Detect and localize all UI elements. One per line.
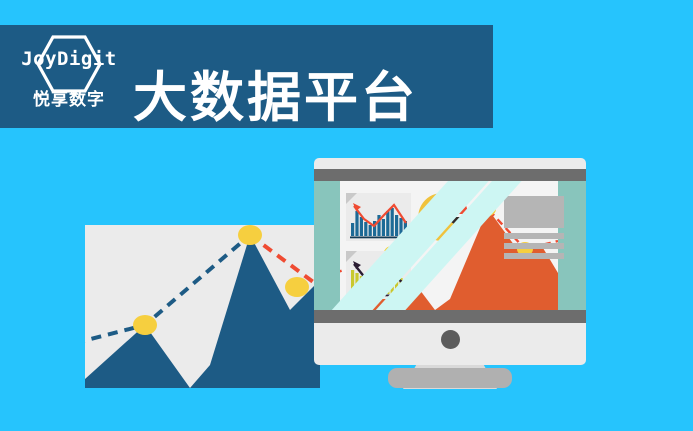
power-button[interactable] <box>441 330 460 349</box>
text-placeholder-block <box>504 196 564 228</box>
screen-left-band <box>314 181 340 310</box>
mountain-shape <box>85 235 320 388</box>
text-placeholder-line <box>504 243 564 249</box>
big-data-platform-banner: JoyDigit 悦享数字 大数据平台 <box>0 0 693 431</box>
data-node <box>133 315 157 335</box>
monitor-base <box>388 368 512 388</box>
data-node <box>238 225 262 245</box>
monitor-screen <box>314 181 586 310</box>
text-placeholder-line <box>504 253 564 259</box>
data-node <box>285 277 309 297</box>
monitor-bottom-bezel <box>314 310 586 323</box>
logo-wordmark: JoyDigit <box>14 50 124 69</box>
mountain-area-chart-panel <box>85 225 320 388</box>
text-placeholder-line <box>504 233 564 239</box>
logo-subtitle: 悦享数字 <box>14 91 124 108</box>
desktop-monitor <box>314 158 586 388</box>
monitor-top-bezel <box>314 169 586 181</box>
brand-logo: JoyDigit 悦享数字 <box>14 33 124 121</box>
blue-mountain-chart <box>85 225 320 388</box>
header-bar: JoyDigit 悦享数字 大数据平台 <box>0 25 493 128</box>
page-title: 大数据平台 <box>133 69 418 128</box>
